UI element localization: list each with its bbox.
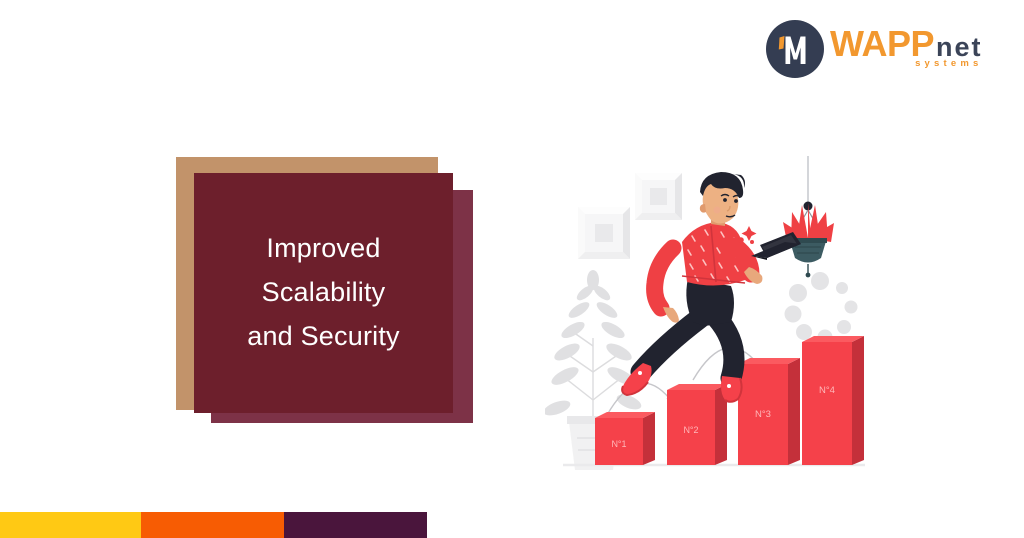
bar-2-label: N°2 [683, 425, 698, 435]
bar-4: N°4 [802, 336, 864, 465]
shoe-front [721, 376, 742, 402]
brand-logo[interactable]: WAPP net systems [766, 18, 1010, 80]
bar-1: N°1 [595, 412, 655, 465]
logo-wordmark: WAPP net systems [830, 26, 983, 62]
bar-1-label: N°1 [611, 439, 626, 449]
strip-segment-yellow [0, 512, 141, 538]
footer-color-strip [0, 512, 427, 538]
hero-illustration: N°1 N°2 N°3 [545, 150, 875, 485]
hanging-plant-icon [783, 156, 834, 277]
logo-primary-text: WAPP [830, 26, 934, 62]
strip-segment-purple [284, 512, 427, 538]
logo-secondary-text: net [936, 34, 983, 61]
strip-segment-orange [141, 512, 284, 538]
title-card: Improved Scalability and Security [194, 173, 453, 413]
page-title: Improved Scalability and Security [247, 227, 399, 358]
bar-4-label: N°4 [819, 385, 835, 396]
wall-frame-upper-icon [635, 173, 682, 220]
logo-tagline: systems [915, 59, 982, 69]
bar-3-label: N°3 [755, 409, 771, 420]
wappnet-w-monogram-icon [766, 20, 824, 78]
slide-canvas: WAPP net systems Improved Scalability an… [0, 0, 1024, 538]
bar-2: N°2 [667, 384, 727, 465]
dot-ring-icon [785, 272, 858, 345]
sparkle-icon [738, 226, 756, 244]
wall-frame-lower-icon [578, 207, 630, 259]
bar-3: N°3 [738, 358, 800, 465]
laptop-icon [751, 232, 801, 260]
